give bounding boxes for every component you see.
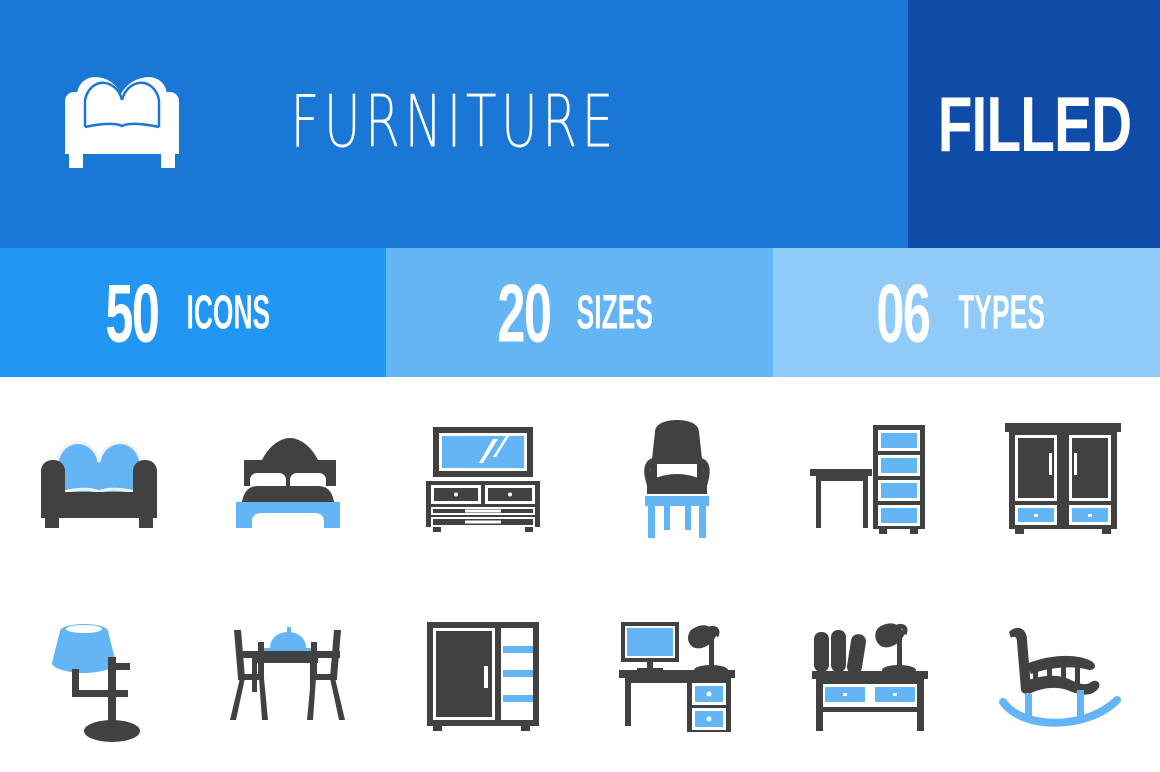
cabinet-icon: [413, 608, 553, 738]
icon-cell[interactable]: [0, 575, 193, 772]
icon-set-preview: FURNITURE FILLED 50 ICONS 20 SIZES 06 TY…: [0, 0, 1160, 772]
stat-icons: 50 ICONS: [0, 248, 386, 377]
stat-sizes-number: 20: [497, 271, 550, 354]
double-bed-icon: [220, 416, 360, 536]
icon-cell[interactable]: [193, 377, 386, 575]
icon-cell[interactable]: [967, 575, 1160, 772]
header-main: FURNITURE: [0, 0, 908, 248]
desk-shelf-icon: [800, 411, 940, 541]
stat-sizes: 20 SIZES: [386, 248, 773, 377]
icon-grid: [0, 377, 1160, 772]
computer-desk-icon: [607, 608, 747, 738]
armchair-icon: [617, 406, 737, 546]
stat-types: 06 TYPES: [773, 248, 1160, 377]
tv-dresser-icon: [413, 411, 553, 541]
stat-icons-number: 50: [105, 271, 158, 354]
stat-types-number: 06: [876, 271, 929, 354]
icon-cell[interactable]: [387, 575, 580, 772]
stats-bar: 50 ICONS 20 SIZES 06 TYPES: [0, 248, 1160, 377]
icon-cell[interactable]: [773, 377, 966, 575]
icon-cell[interactable]: [0, 377, 193, 575]
header-banner: FURNITURE FILLED: [0, 0, 1160, 248]
sofa-icon: [27, 416, 167, 536]
icon-cell[interactable]: [773, 575, 966, 772]
study-desk-icon: [800, 608, 940, 738]
page-title: FURNITURE: [82, 86, 827, 158]
dining-table-icon: [220, 608, 360, 738]
icon-cell[interactable]: [580, 575, 773, 772]
stat-types-label: TYPES: [958, 289, 1045, 337]
wardrobe-icon: [993, 411, 1133, 541]
style-badge: FILLED: [908, 0, 1160, 248]
style-badge-label: FILLED: [937, 85, 1130, 163]
icon-cell[interactable]: [967, 377, 1160, 575]
icon-cell[interactable]: [387, 377, 580, 575]
rocking-chair-icon: [993, 608, 1133, 738]
floor-lamp-icon: [32, 603, 162, 743]
stat-icons-label: ICONS: [186, 289, 270, 337]
stat-sizes-label: SIZES: [576, 289, 652, 337]
icon-cell[interactable]: [580, 377, 773, 575]
icon-cell[interactable]: [193, 575, 386, 772]
